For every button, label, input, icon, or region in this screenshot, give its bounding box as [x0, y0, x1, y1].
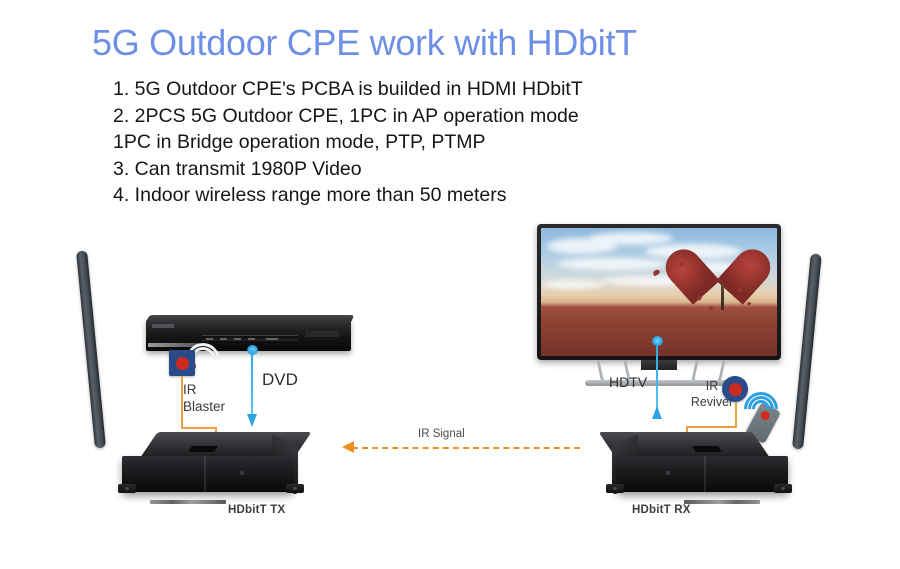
feature-line: 1PC in Bridge operation mode, PTP, PTMP — [113, 129, 713, 156]
ir-receiver-wire-horizontal — [686, 426, 737, 428]
rx-slot — [692, 446, 722, 452]
antenna-icon — [792, 253, 822, 449]
tx-mount-ear-right — [286, 484, 304, 493]
ir-reviver-label-line2: Reviver — [691, 395, 733, 409]
dvd-label: DVD — [262, 370, 298, 390]
hdtv-device — [537, 224, 789, 384]
rx-port — [666, 471, 670, 475]
hdbitt-tx-label: HDbitT TX — [228, 504, 285, 516]
tx-indicator-strip — [150, 500, 226, 504]
feature-list: 1. 5G Outdoor CPE's PCBA is builded in H… — [113, 76, 713, 209]
tx-seam — [204, 456, 206, 492]
slide-canvas: 5G Outdoor CPE work with HDbitT 1. 5G Ou… — [0, 0, 900, 569]
tree-trunk — [721, 284, 724, 310]
feature-line: 2. 2PCS 5G Outdoor CPE, 1PC in AP operat… — [113, 103, 713, 130]
ir-signal-link-line — [352, 447, 580, 449]
ir-blaster-label: IR Blaster — [183, 381, 239, 415]
feature-line: 3. Can transmit 1980P Video — [113, 156, 713, 183]
rx-mount-ear-left — [774, 484, 792, 493]
hdmi-signal-line — [251, 350, 253, 418]
dvd-disc-tray — [202, 335, 298, 341]
rx-indicator-strip — [684, 500, 760, 504]
hdmi-out-signal-arrowhead — [652, 406, 662, 419]
rx-front-panel — [616, 456, 788, 492]
hdmi-signal-arrowhead — [247, 414, 257, 427]
rx-seam — [705, 456, 707, 492]
hdbitt-rx-label: HDbitT RX — [632, 504, 691, 516]
tx-port — [240, 471, 244, 475]
dvd-brand-badge — [152, 324, 174, 328]
tx-slot — [188, 446, 218, 452]
hdbitt-rx-device — [598, 432, 788, 504]
tv-stand-neck — [641, 360, 677, 370]
rx-mount-ear-right — [606, 484, 624, 493]
antenna-icon — [76, 250, 106, 448]
feature-line: 4. Indoor wireless range more than 50 me… — [113, 182, 713, 209]
feature-line: 1. 5G Outdoor CPE's PCBA is builded in H… — [113, 76, 713, 103]
ir-reviver-label: IR Reviver — [682, 378, 742, 410]
page-title: 5G Outdoor CPE work with HDbitT — [92, 22, 637, 64]
hdbitt-tx-device — [122, 432, 312, 504]
hdtv-label: HDTV — [609, 374, 647, 390]
ir-receiver-wire-vertical — [735, 402, 737, 428]
ir-blaster-label-line1: IR — [183, 382, 197, 397]
ir-signal-arrowhead — [342, 441, 354, 453]
ir-wire-horizontal — [181, 427, 217, 429]
heart-tree-graphic — [685, 242, 751, 302]
tx-mount-ear-left — [118, 484, 136, 493]
ir-eye-icon — [169, 350, 195, 376]
dvd-display — [305, 331, 339, 337]
ir-reviver-label-line1: IR — [706, 379, 719, 393]
remote-signal-waves-icon — [744, 392, 774, 422]
tx-front-panel — [122, 456, 294, 492]
ir-signal-label: IR Signal — [418, 428, 465, 440]
ir-blaster-label-line2: Blaster — [183, 399, 225, 414]
